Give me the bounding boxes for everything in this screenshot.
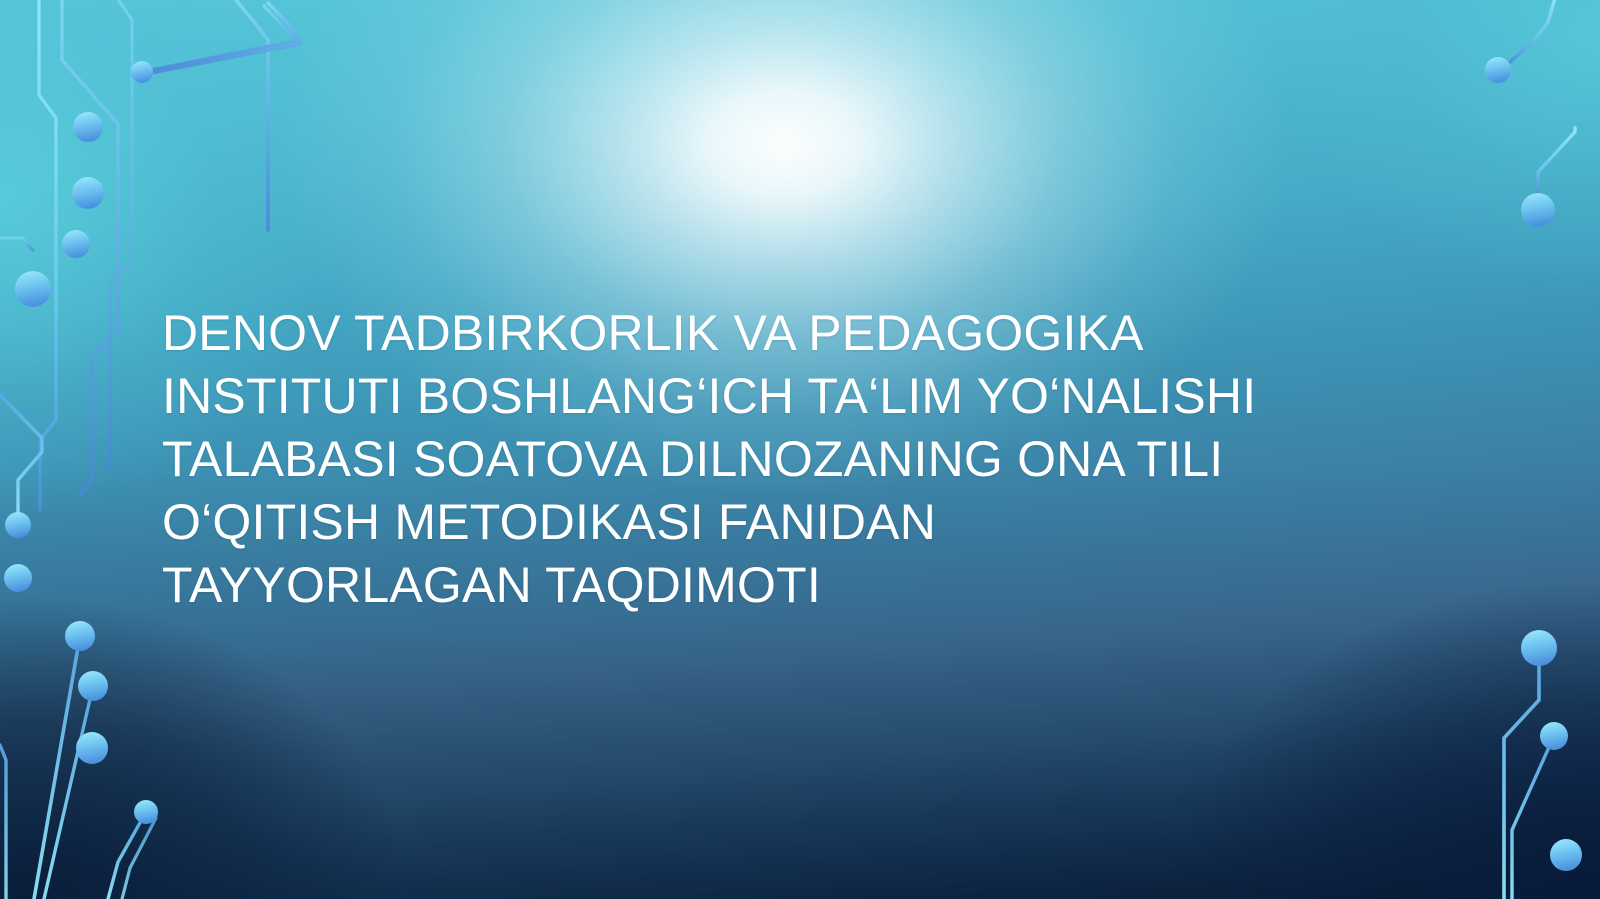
title-line-3: TALABASI SOATOVA DILNOZANING ONA TILI [162,428,1452,491]
slide-title: DENOV TADBIRKORLIK VA PEDAGOGIKA INSTITU… [162,302,1452,617]
title-line-1: DENOV TADBIRKORLIK VA PEDAGOGIKA [162,302,1452,365]
presentation-slide: DENOV TADBIRKORLIK VA PEDAGOGIKA INSTITU… [0,0,1600,899]
title-line-2: INSTITUTI BOSHLANG‘ICH TA‘LIM YO‘NALISHI [162,365,1452,428]
title-line-5: TAYYORLAGAN TAQDIMOTI [162,554,1452,617]
title-line-4: O‘QITISH METODIKASI FANIDAN [162,491,1452,554]
